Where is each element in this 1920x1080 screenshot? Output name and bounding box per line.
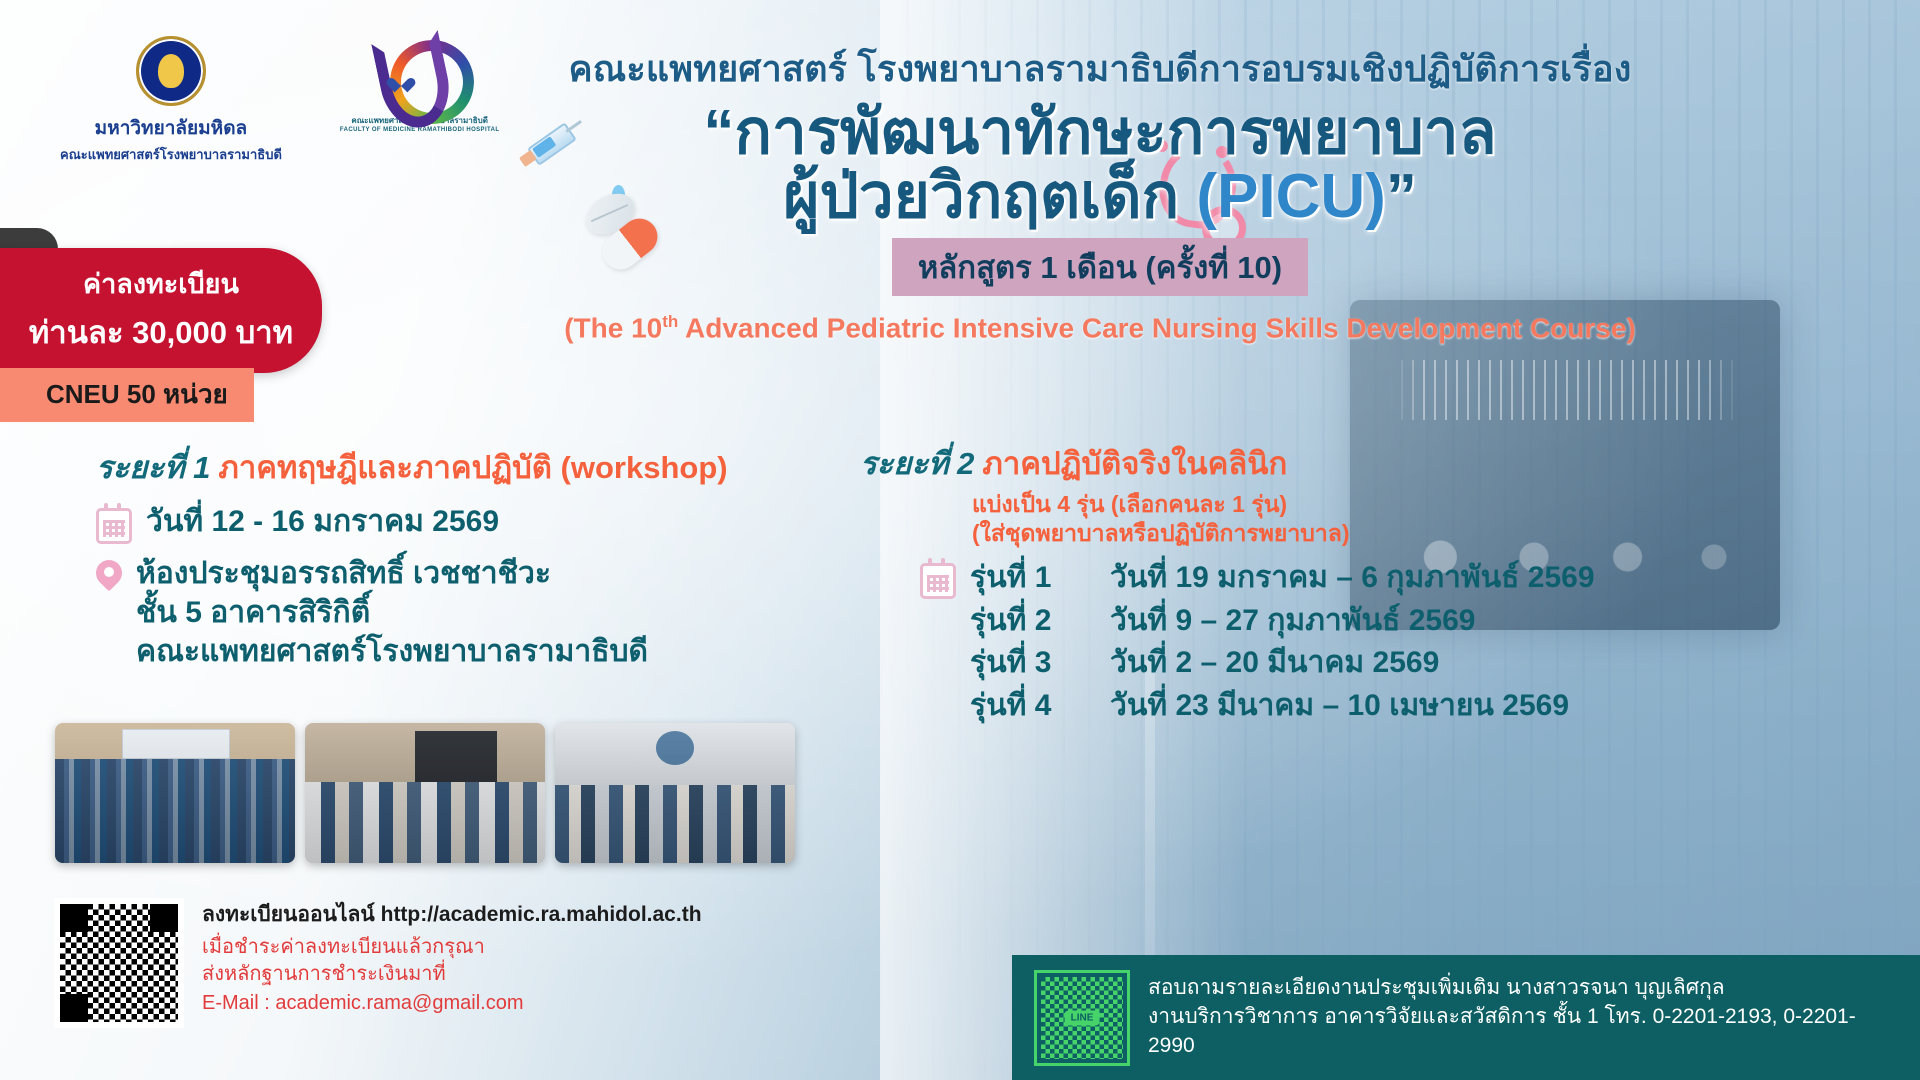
phase-2-note-line-1: แบ่งเป็น 4 รุ่น (เลือกคนละ 1 รุ่น) — [972, 490, 1760, 519]
registration-url-label[interactable]: ลงทะเบียนออนไลน์ http://academic.ra.mahi… — [202, 898, 702, 931]
list-item: รุ่นที่ 2 วันที่ 9 – 27 กุมภาพันธ์ 2569 — [970, 600, 1595, 643]
line-logo-icon: LINE — [1065, 1010, 1100, 1025]
venue-line-3: คณะแพทยศาสตร์โรงพยาบาลรามาธิบดี — [136, 632, 648, 671]
organizer-line: คณะแพทยศาสตร์ โรงพยาบาลรามาธิบดีการอบรมเ… — [500, 40, 1700, 97]
logo-row: มหาวิทยาลัยมหิดล คณะแพทยศาสตร์โรงพยาบาลร… — [60, 36, 499, 165]
registration-email[interactable]: E-Mail : academic.rama@gmail.com — [202, 992, 702, 1015]
phase-2-title: ภาคปฏิบัติจริงในคลินิก — [982, 446, 1287, 481]
phase-1-number: ระยะที่ 1 — [96, 450, 210, 485]
phase-1-heading: ระยะที่ 1ภาคทฤษฎีและภาคปฏิบัติ (workshop… — [96, 442, 836, 492]
cohort-date: วันที่ 19 มกราคม – 6 กุมภาพันธ์ 2569 — [1110, 557, 1595, 600]
list-item: รุ่นที่ 1 วันที่ 19 มกราคม – 6 กุมภาพันธ… — [970, 557, 1595, 600]
course-duration-chip: หลักสูตร 1 เดือน (ครั้งที่ 10) — [892, 238, 1308, 296]
heart-icon — [392, 72, 410, 90]
fee-amount: ท่านละ 30,000 บาท — [0, 307, 322, 357]
mahidol-seal-icon — [136, 36, 206, 106]
picu-label: (PICU) — [1196, 162, 1385, 231]
payment-note-line-2: ส่งหลักฐานการชำระเงินมาที่ — [202, 961, 702, 988]
line-qr-code[interactable]: LINE — [1034, 970, 1130, 1066]
english-subtitle-pre: (The 10 — [564, 312, 662, 343]
payment-note: เมื่อชำระค่าลงทะเบียนแล้วกรุณา ส่งหลักฐา… — [202, 934, 702, 988]
contact-panel: LINE สอบถามรายละเอียดงานประชุมเพิ่มเติม … — [1012, 955, 1920, 1080]
training-photo-workshop — [305, 723, 545, 863]
payment-note-line-1: เมื่อชำระค่าลงทะเบียนแล้วกรุณา — [202, 934, 702, 961]
phase-2-number: ระยะที่ 2 — [860, 446, 974, 481]
calendar-icon — [96, 508, 132, 544]
phase-1-date-row: วันที่ 12 - 16 มกราคม 2569 — [96, 502, 836, 544]
poster-root: มหาวิทยาลัยมหิดล คณะแพทยศาสตร์โรงพยาบาลร… — [0, 0, 1920, 1080]
contact-line-2: งานบริการวิชาการ อาคารวิจัยและสวัสดิการ … — [1148, 1003, 1898, 1061]
english-subtitle-post: Advanced Pediatric Intensive Care Nursin… — [678, 312, 1635, 343]
phase-2-note-line-2: (ใส่ชุดพยาบาลหรือปฏิบัติการพยาบาล) — [972, 519, 1760, 548]
registration-text: ลงทะเบียนออนไลน์ http://academic.ra.mahi… — [202, 898, 702, 1015]
phase-2-block: ระยะที่ 2ภาคปฏิบัติจริงในคลินิก แบ่งเป็น… — [860, 438, 1760, 727]
english-subtitle: (The 10th Advanced Pediatric Intensive C… — [500, 312, 1700, 344]
phase-1-venue-row: ห้องประชุมอรรถสิทธิ์ เวชชาชีวะ ชั้น 5 อา… — [96, 554, 836, 671]
registration-block: ลงทะเบียนออนไลน์ http://academic.ra.mahi… — [54, 898, 814, 1028]
phase-2-cohorts-row: รุ่นที่ 1 วันที่ 19 มกราคม – 6 กุมภาพันธ… — [920, 557, 1760, 727]
mahidol-logo: มหาวิทยาลัยมหิดล คณะแพทยศาสตร์โรงพยาบาลร… — [60, 36, 282, 165]
training-photo-group — [55, 723, 295, 863]
contact-text: สอบถามรายละเอียดงานประชุมเพิ่มเติม นางสา… — [1148, 974, 1898, 1061]
contact-line-1: สอบถามรายละเอียดงานประชุมเพิ่มเติม นางสา… — [1148, 974, 1898, 1003]
list-item: รุ่นที่ 3 วันที่ 2 – 20 มีนาคม 2569 — [970, 642, 1595, 685]
title-line-2-post: ” — [1386, 162, 1417, 231]
faculty-name: คณะแพทยศาสตร์โรงพยาบาลรามาธิบดี — [60, 144, 282, 165]
header-block: คณะแพทยศาสตร์ โรงพยาบาลรามาธิบดีการอบรมเ… — [500, 40, 1700, 344]
fee-label: ค่าลงทะเบียน — [0, 262, 322, 305]
cohort-date: วันที่ 2 – 20 มีนาคม 2569 — [1110, 642, 1439, 685]
anniversary-caption-en: FACULTY OF MEDICINE RAMATHIBODI HOSPITAL — [340, 127, 500, 133]
cohort-date: วันที่ 23 มีนาคม – 10 เมษายน 2569 — [1110, 685, 1569, 728]
location-pin-icon — [96, 560, 122, 594]
cohort-date: วันที่ 9 – 27 กุมภาพันธ์ 2569 — [1110, 600, 1475, 643]
phase-1-title: ภาคทฤษฎีและภาคปฏิบัติ (workshop) — [218, 450, 727, 485]
phase-2-note: แบ่งเป็น 4 รุ่น (เลือกคนละ 1 รุ่น) (ใส่ช… — [972, 490, 1760, 547]
cohort-name: รุ่นที่ 3 — [970, 642, 1110, 685]
registration-fee-badge: ค่าลงทะเบียน ท่านละ 30,000 บาท — [0, 248, 322, 373]
phase-1-venue: ห้องประชุมอรรถสิทธิ์ เวชชาชีวะ ชั้น 5 อา… — [136, 554, 648, 671]
phase-2-heading: ระยะที่ 2ภาคปฏิบัติจริงในคลินิก — [860, 438, 1760, 488]
phase-1-block: ระยะที่ 1ภาคทฤษฎีและภาคปฏิบัติ (workshop… — [96, 442, 836, 671]
university-name: มหาวิทยาลัยมหิดล — [95, 113, 248, 143]
title-line-2-pre: ผู้ป่วยวิกฤตเด็ก — [783, 162, 1196, 231]
sixty-years-icon — [366, 36, 474, 110]
poster-title: “การพัฒนาทักษะการพยาบาล ผู้ป่วยวิกฤตเด็ก… — [500, 101, 1700, 230]
anniversary-logo: คณะแพทยศาสตร์โรงพยาบาลรามาธิบดี FACULTY … — [340, 36, 500, 133]
title-line-1: “การพัฒนาทักษะการพยาบาล — [500, 101, 1700, 165]
calendar-icon — [920, 563, 956, 599]
venue-line-2: ชั้น 5 อาคารสิริกิติ์ — [136, 593, 648, 632]
cohort-name: รุ่นที่ 2 — [970, 600, 1110, 643]
training-photo-classroom — [555, 723, 795, 863]
venue-line-1: ห้องประชุมอรรถสิทธิ์ เวชชาชีวะ — [136, 554, 648, 593]
list-item: รุ่นที่ 4 วันที่ 23 มีนาคม – 10 เมษายน 2… — [970, 685, 1595, 728]
registration-qr-code[interactable] — [54, 898, 184, 1028]
photo-strip — [55, 723, 795, 863]
english-subtitle-ordinal: th — [662, 312, 678, 331]
cohort-list: รุ่นที่ 1 วันที่ 19 มกราคม – 6 กุมภาพันธ… — [970, 557, 1595, 727]
phase-1-date: วันที่ 12 - 16 มกราคม 2569 — [146, 502, 499, 541]
cohort-name: รุ่นที่ 4 — [970, 685, 1110, 728]
title-line-2: ผู้ป่วยวิกฤตเด็ก (PICU)” — [500, 165, 1700, 229]
cneu-badge: CNEU 50 หน่วย — [0, 368, 254, 422]
cohort-name: รุ่นที่ 1 — [970, 557, 1110, 600]
